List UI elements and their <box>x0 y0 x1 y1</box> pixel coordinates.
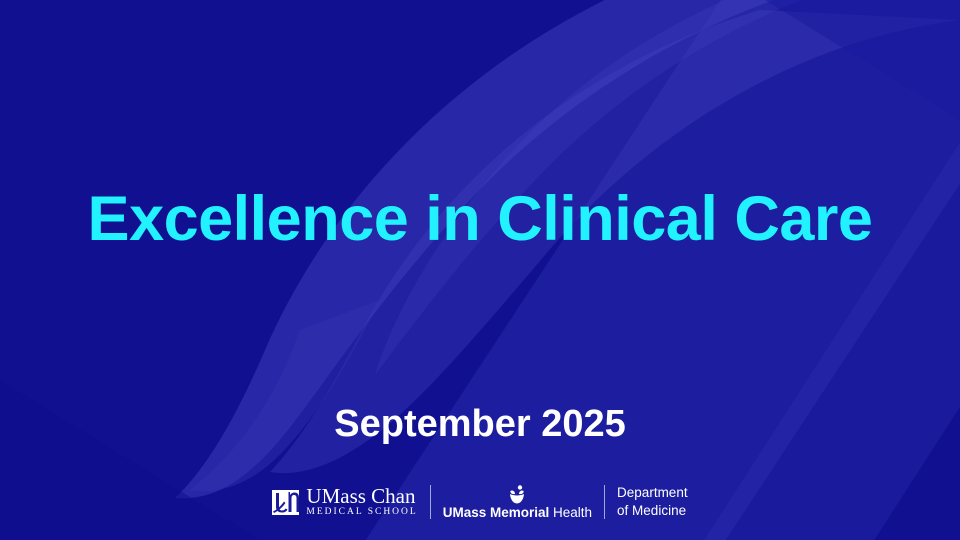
umass-chan-logo: UMass Chan MEDICAL SCHOOL <box>272 481 417 523</box>
department-line-2: of Medicine <box>617 502 688 520</box>
background-artwork <box>0 0 960 540</box>
logo-bar: UMass Chan MEDICAL SCHOOL UMass Memorial… <box>0 481 960 523</box>
logo-divider-2 <box>604 485 605 519</box>
umass-memorial-name-light: Health <box>549 505 592 520</box>
umass-memorial-wordmark: UMass Memorial Health <box>443 506 592 520</box>
slide-title: Excellence in Clinical Care <box>0 186 960 253</box>
department-of-medicine-logo: Department of Medicine <box>617 481 688 523</box>
umass-chan-wordmark: UMass Chan MEDICAL SCHOOL <box>306 486 417 518</box>
umass-memorial-tulip-icon <box>506 485 528 504</box>
title-slide: Excellence in Clinical Care September 20… <box>0 0 960 540</box>
title-container: Excellence in Clinical Care <box>0 186 960 253</box>
umass-memorial-health-logo: UMass Memorial Health <box>443 481 592 523</box>
umass-memorial-name-bold: UMass Memorial <box>443 505 550 520</box>
umass-chan-subtitle: MEDICAL SCHOOL <box>306 508 417 518</box>
department-line-1: Department <box>617 484 688 502</box>
slide-date: September 2025 <box>0 404 960 446</box>
umass-chan-name: UMass Chan <box>306 486 417 507</box>
logo-divider-1 <box>430 485 431 519</box>
date-container: September 2025 <box>0 404 960 446</box>
umass-chan-u-monogram-icon <box>272 490 299 515</box>
department-wordmark: Department of Medicine <box>617 484 688 520</box>
